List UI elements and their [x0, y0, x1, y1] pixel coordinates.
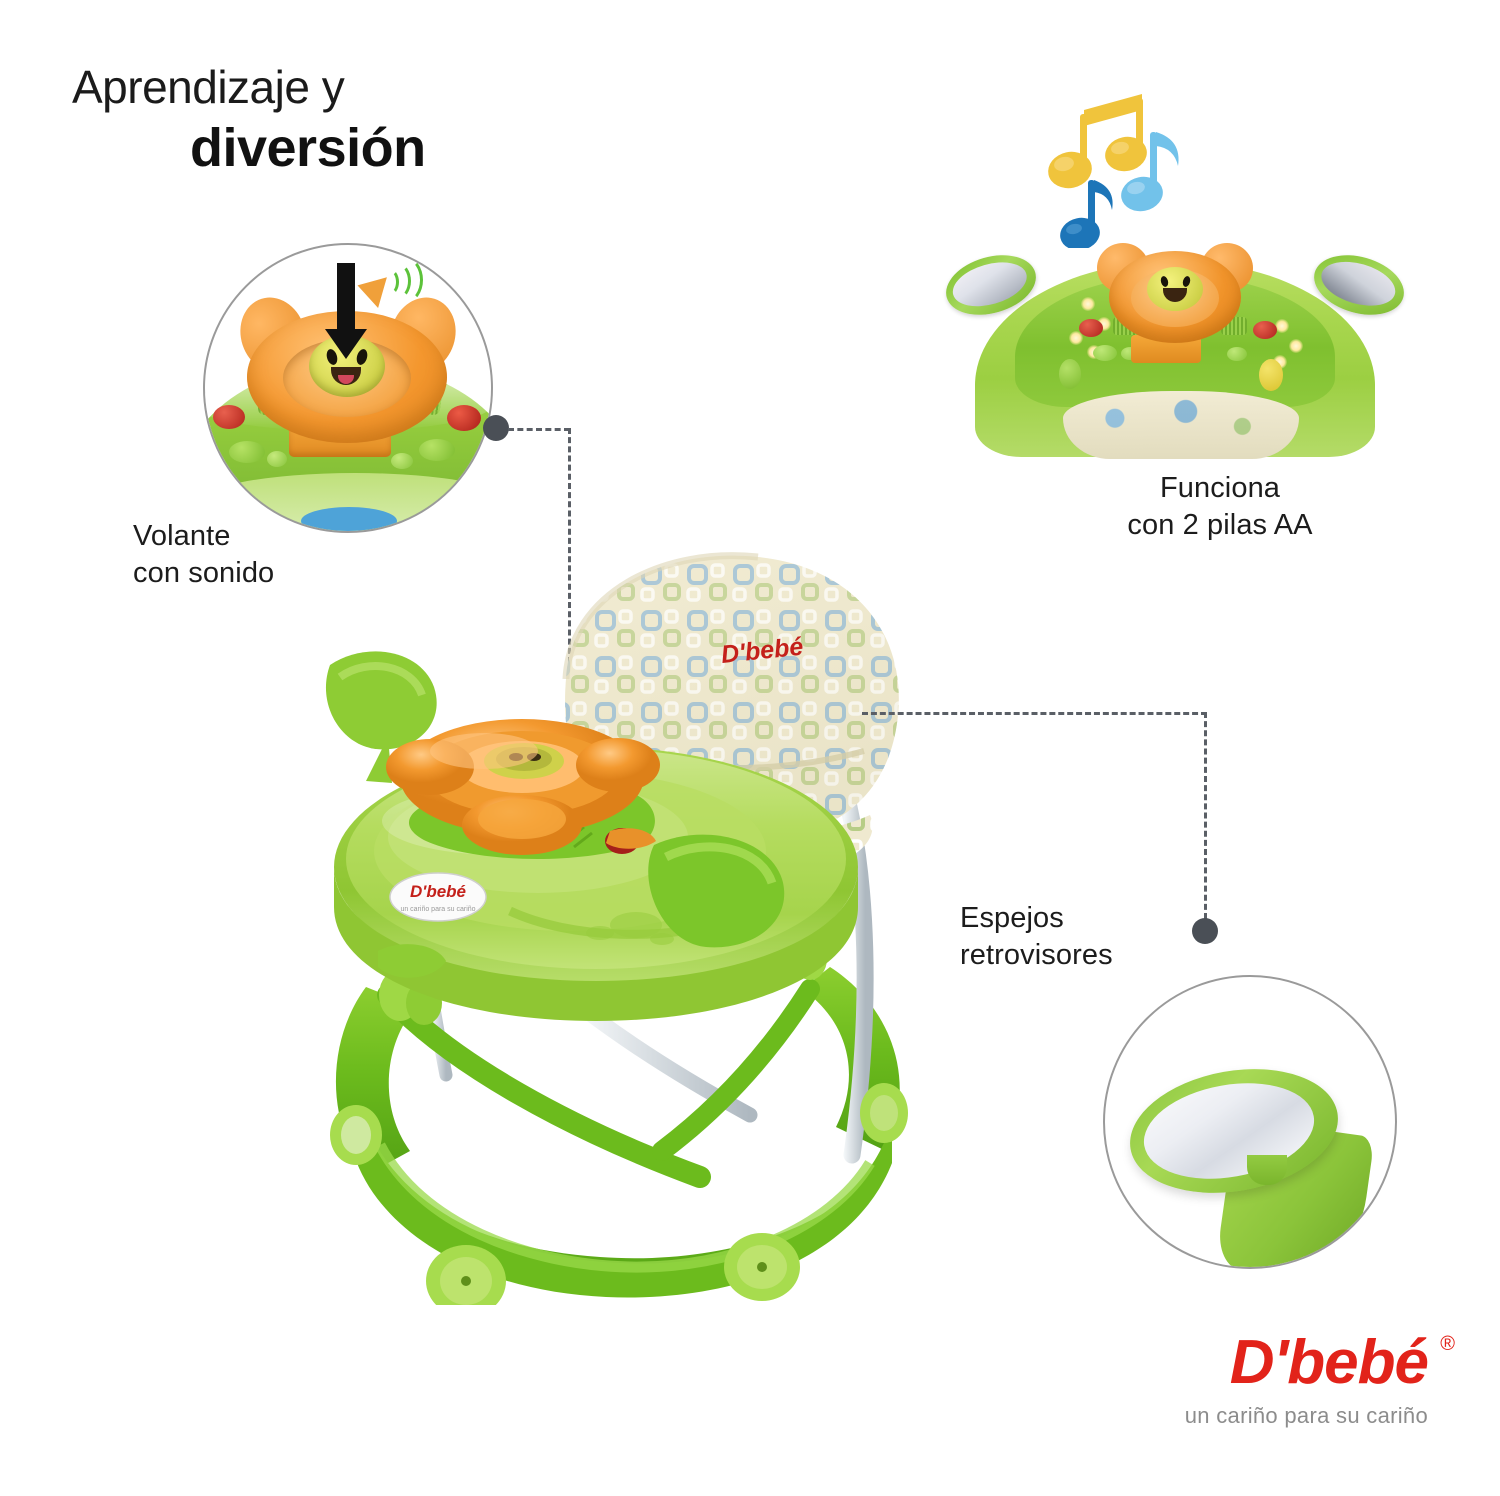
button-red-right: [1253, 321, 1277, 339]
button-green-1: [229, 441, 265, 463]
title-line-1: Aprendizaje y: [72, 62, 426, 114]
button-red-left: [1079, 319, 1103, 337]
button-yellow: [1259, 359, 1283, 391]
sound-wave-icon: [389, 257, 423, 303]
callout-label-mirrors: Espejos retrovisores: [960, 900, 1113, 974]
button-green-4: [391, 453, 413, 469]
callout-circle-steering-wheel: [203, 243, 493, 533]
product-photo-front-tray: [935, 235, 1415, 465]
callout-label-line-1: Funciona: [1160, 472, 1280, 504]
registered-trademark-icon: ®: [1440, 1334, 1454, 1354]
connector-dot-steering-wheel: [483, 415, 509, 441]
connector-line-steering-h: [508, 428, 570, 431]
button-red-right: [447, 405, 481, 431]
title-line-2: diversión: [190, 118, 426, 178]
connector-line-mirror-h: [862, 712, 1207, 715]
callout-label-line-2: con 2 pilas AA: [1127, 509, 1312, 541]
product-photo-main: D'bebé D'bebé un cariño para su cariño: [270, 515, 970, 1305]
infographic-canvas: Aprendizaje y diversión: [0, 0, 1500, 1496]
led-light: [1289, 339, 1303, 353]
svg-text:D'bebé: D'bebé: [410, 882, 466, 901]
callout-label-batteries: Funciona con 2 pilas AA: [1060, 470, 1380, 544]
brand-tagline: un cariño para su cariño: [1128, 1403, 1428, 1429]
brand-logo: D'bebé ® un cariño para su cariño: [1128, 1332, 1428, 1429]
callout-label-line-1: Volante: [133, 520, 230, 552]
led-light: [1275, 319, 1289, 333]
page-title: Aprendizaje y diversión: [72, 62, 426, 178]
mirror-glass-left: [948, 255, 1032, 314]
button-green-1: [1093, 345, 1117, 361]
callout-label-line-1: Espejos: [960, 902, 1064, 934]
button-green-4: [1059, 359, 1081, 389]
button-red-left: [213, 405, 245, 429]
brand-name-text: D'bebé: [1230, 1328, 1428, 1397]
music-notes-icon: [1022, 58, 1212, 248]
connector-line-mirror-v: [1204, 712, 1207, 919]
seat-fabric-visible: [1063, 391, 1299, 459]
svg-text:un cariño para su cariño: un cariño para su cariño: [400, 906, 475, 913]
button-green-2: [419, 439, 455, 461]
button-green-3: [1227, 347, 1247, 361]
callout-label-line-2: con sonido: [133, 557, 274, 589]
led-light: [1081, 297, 1095, 311]
connector-dot-mirror: [1192, 918, 1218, 944]
callout-circle-mirror: [1103, 975, 1397, 1269]
mirror-glass-right: [1316, 254, 1400, 313]
callout-label-line-2: retrovisores: [960, 939, 1113, 971]
callout-label-steering-wheel: Volante con sonido: [133, 518, 274, 592]
brand-name: D'bebé ®: [1230, 1332, 1428, 1394]
button-green-3: [267, 451, 287, 467]
